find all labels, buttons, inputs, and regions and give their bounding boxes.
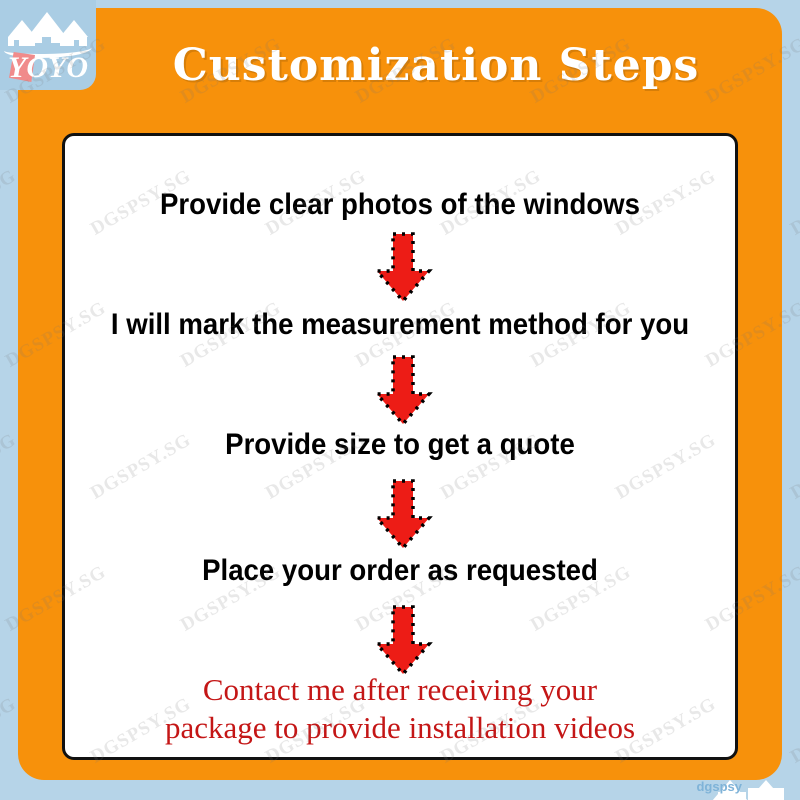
- brand-logo: YOYO: [0, 0, 96, 90]
- step-label-3: Provide size to get a quote: [92, 428, 708, 462]
- down-arrow-icon: [372, 354, 434, 428]
- steps-card: Provide clear photos of the windows I wi…: [62, 133, 738, 760]
- final-note-line-2: package to provide installation videos: [65, 709, 735, 747]
- corner-brand-label: dgspsy: [696, 779, 742, 794]
- step-label-4: Place your order as requested: [92, 554, 708, 588]
- down-arrow-icon: [372, 478, 434, 552]
- logo-text: YOYO: [8, 53, 96, 83]
- page-title: Customization Steps: [96, 40, 776, 91]
- house-body-shape: [748, 788, 784, 800]
- final-note-line-1: Contact me after receiving your: [65, 671, 735, 709]
- final-note: Contact me after receiving your package …: [65, 671, 735, 747]
- down-arrow-icon: [372, 604, 434, 678]
- step-label-2: I will mark the measurement method for y…: [92, 308, 708, 342]
- step-label-1: Provide clear photos of the windows: [92, 188, 708, 222]
- watermark-text: DGSPSY.SG: [787, 429, 800, 504]
- poster-root: dgspsy Customization Steps Provide clear…: [0, 0, 800, 800]
- watermark-text: DGSPSY.SG: [787, 165, 800, 240]
- down-arrow-icon: [372, 231, 434, 305]
